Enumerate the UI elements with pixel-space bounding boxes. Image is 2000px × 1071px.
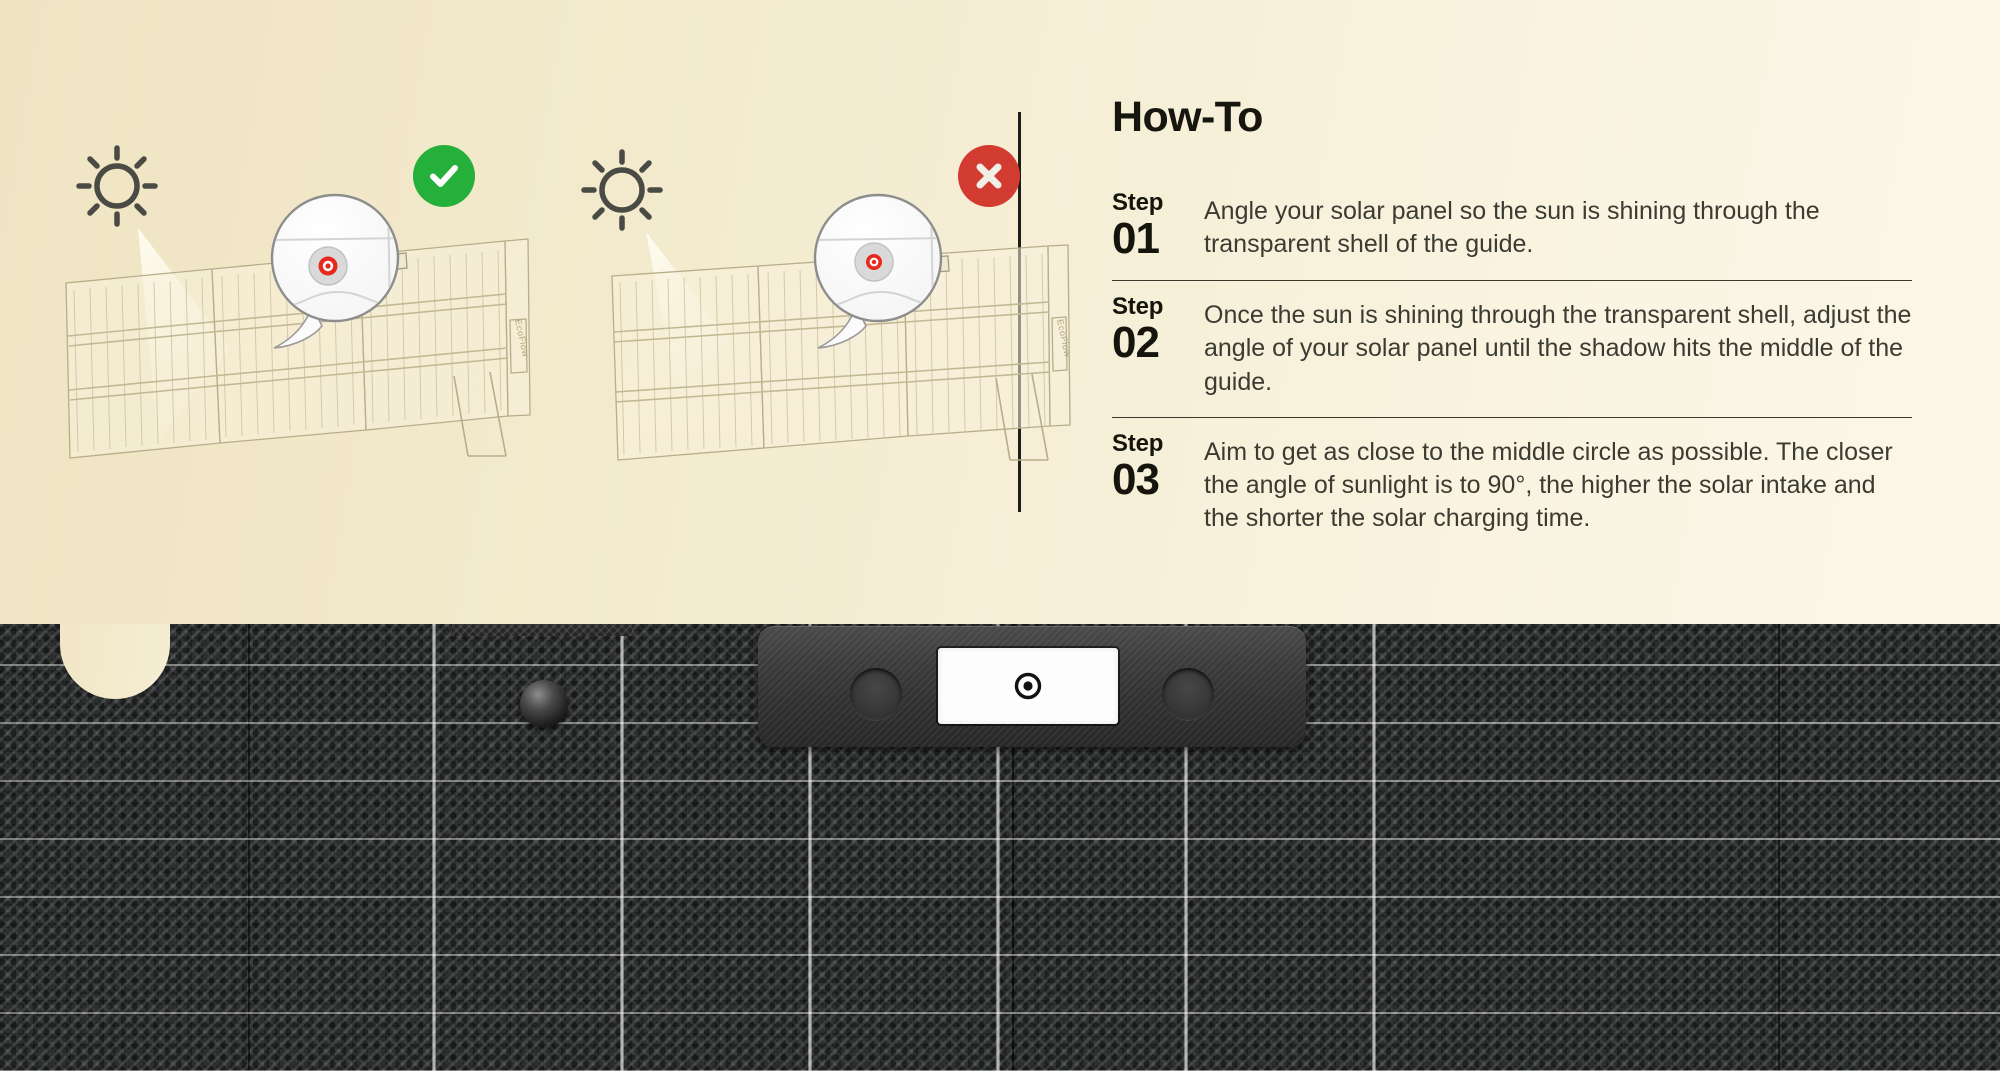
step-row: Step 01 Angle your solar panel so the su… (1112, 177, 1912, 280)
howto-panel: How-To Step 01 Angle your solar panel so… (1112, 96, 1912, 554)
guide-window (938, 648, 1118, 724)
page-title: How-To (1112, 96, 1912, 139)
step-description: Once the sun is shining through the tran… (1200, 295, 1912, 399)
target-dot-icon (872, 260, 876, 264)
angle-guide-infographic: EcoFlow (0, 0, 2000, 1071)
screw-recess-icon (1162, 668, 1214, 720)
target-dot-icon (325, 263, 330, 268)
step-number: 03 (1112, 457, 1200, 503)
step-label: Step 03 (1112, 432, 1200, 503)
step-number: 01 (1112, 216, 1200, 262)
step-label: Step 02 (1112, 295, 1200, 366)
solar-panel-photo (0, 624, 2000, 1071)
step-word: Step (1112, 191, 1200, 215)
sun-icon (79, 148, 155, 224)
angle-guide-module[interactable] (758, 626, 1306, 747)
step-row: Step 02 Once the sun is shining through … (1112, 280, 1912, 417)
sun-icon (584, 152, 660, 228)
status-badge-correct (413, 145, 475, 207)
step-description: Angle your solar panel so the sun is shi… (1200, 191, 1912, 262)
step-description: Aim to get as close to the middle circle… (1200, 432, 1912, 536)
step-row: Step 03 Aim to get as close to the middl… (1112, 417, 1912, 554)
step-word: Step (1112, 432, 1200, 456)
step-label: Step 01 (1112, 191, 1200, 262)
illustration-correct-angle: EcoFlow (60, 120, 580, 470)
target-dot-icon (1011, 669, 1045, 703)
step-word: Step (1112, 295, 1200, 319)
illustration-incorrect-angle: EcoFlow (560, 120, 1080, 470)
step-number: 02 (1112, 320, 1200, 366)
status-badge-incorrect (958, 145, 1020, 207)
check-icon (425, 157, 463, 195)
correct-angle-drawing: EcoFlow (60, 120, 580, 470)
instruction-area: EcoFlow (0, 0, 2000, 630)
carry-strap-icon (452, 624, 632, 636)
screw-recess-icon (850, 668, 902, 720)
knob-icon (520, 680, 568, 728)
cross-icon (972, 159, 1006, 193)
